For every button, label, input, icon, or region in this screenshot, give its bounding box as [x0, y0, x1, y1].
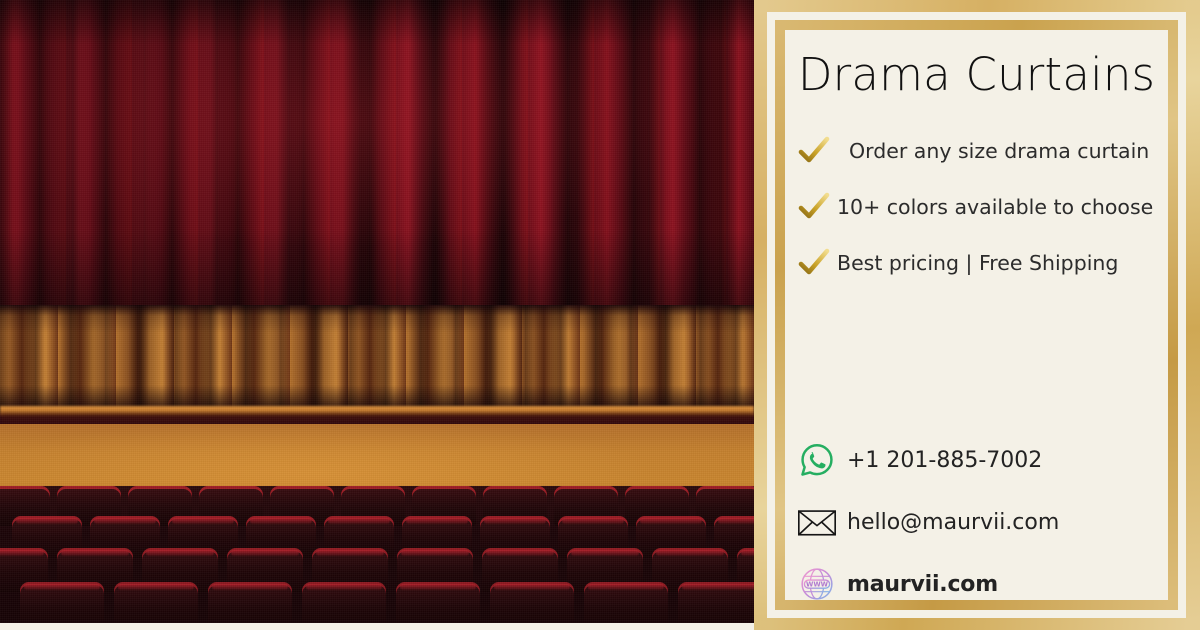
whatsapp-icon[interactable] [797, 440, 837, 480]
check-icon [797, 190, 831, 224]
seat-highlight [682, 584, 754, 590]
list-item-label: 10+ colors available to choose [837, 195, 1153, 219]
seat-highlight [316, 550, 384, 556]
check-icon [797, 246, 831, 280]
seat-highlight [656, 550, 724, 556]
website-url[interactable]: maurvii.com [847, 572, 998, 597]
seat-highlight [306, 584, 382, 590]
list-item: 10+ colors available to choose [797, 190, 1162, 224]
seat-highlight [231, 550, 299, 556]
stage-apron-texture [0, 305, 754, 413]
promo-banner: Drama Curtains Order any size drama curt… [0, 0, 1200, 630]
contact-website[interactable]: WWW maurvii.com [797, 564, 1162, 604]
curtain-sheen [0, 0, 754, 318]
feature-list: Order any size drama curtain 10+ colors … [797, 134, 1162, 302]
seat-highlight [172, 518, 234, 524]
seat-highlight [588, 584, 664, 590]
photo-bottom-strip [0, 623, 754, 630]
seat-highlight [718, 518, 754, 524]
seat-highlight [0, 550, 44, 556]
list-item: Best pricing | Free Shipping [797, 246, 1162, 280]
seat-highlight [640, 518, 702, 524]
seat-highlight [212, 584, 288, 590]
audience-seats [0, 486, 754, 623]
page-title: Drama Curtains [785, 48, 1168, 101]
email-address[interactable]: hello@maurvii.com [847, 510, 1059, 535]
seat-highlight [400, 584, 476, 590]
svg-text:WWW: WWW [806, 580, 829, 588]
seat-highlight [146, 550, 214, 556]
seat-highlight [250, 518, 312, 524]
email-icon[interactable] [797, 502, 837, 542]
card-panel: Drama Curtains Order any size drama curt… [785, 30, 1168, 600]
contact-email[interactable]: hello@maurvii.com [797, 502, 1162, 542]
stage-photo [0, 0, 754, 630]
list-item: Order any size drama curtain [797, 134, 1162, 168]
seat-highlight [494, 584, 570, 590]
seat-highlight [571, 550, 639, 556]
globe-www-icon[interactable]: WWW [797, 564, 837, 604]
check-icon [797, 134, 831, 168]
seat-highlight [24, 584, 100, 590]
seat-highlight [401, 550, 469, 556]
list-item-label: Best pricing | Free Shipping [837, 251, 1118, 275]
seat-highlight [328, 518, 390, 524]
seat-highlight [741, 550, 754, 556]
contact-whatsapp[interactable]: +1 201-885-7002 [797, 440, 1162, 480]
seat-highlight [16, 518, 78, 524]
seat-highlight [118, 584, 194, 590]
list-item-label: Order any size drama curtain [849, 139, 1149, 163]
info-card: Drama Curtains Order any size drama curt… [754, 0, 1200, 630]
seat-highlight [486, 550, 554, 556]
seat-highlight [61, 550, 129, 556]
seat-highlight [562, 518, 624, 524]
seat-highlight [406, 518, 468, 524]
seat-highlight [484, 518, 546, 524]
seat-highlight [94, 518, 156, 524]
whatsapp-number[interactable]: +1 201-885-7002 [847, 448, 1042, 473]
contact-list: +1 201-885-7002 hello@maurvii.com [797, 440, 1162, 626]
